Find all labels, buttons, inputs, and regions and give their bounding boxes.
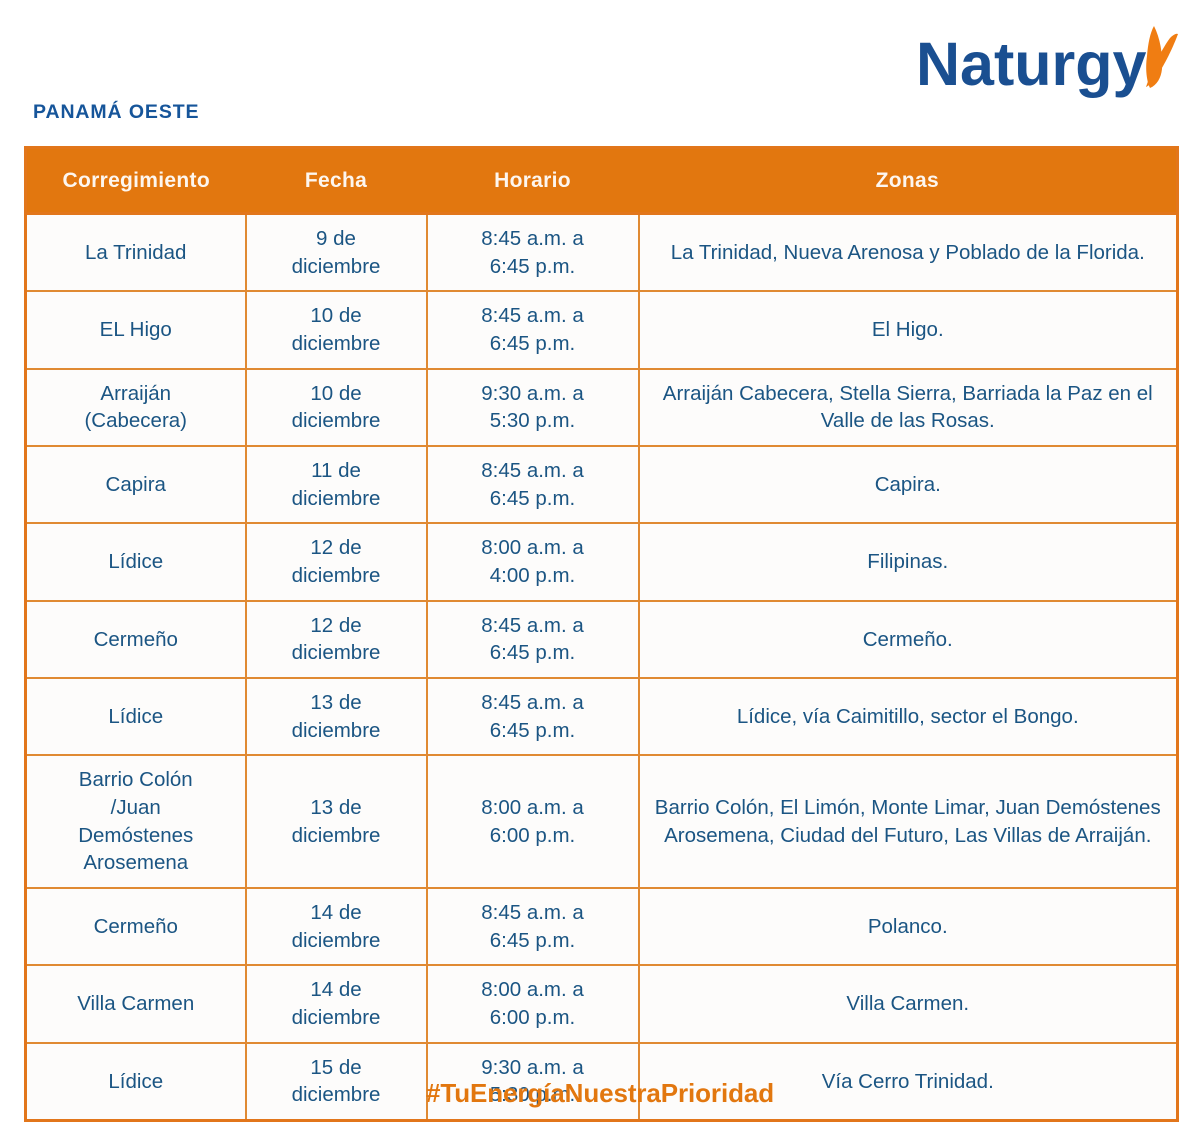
cell-fecha: 10 de diciembre — [246, 291, 427, 368]
cell-corregimiento: Arraiján (Cabecera) — [26, 369, 246, 446]
cell-corregimiento: Capira — [26, 446, 246, 523]
cell-fecha: 9 de diciembre — [246, 214, 427, 292]
cell-zonas: Barrio Colón, El Limón, Monte Limar, Jua… — [639, 755, 1178, 888]
schedule-table: Corregimiento Fecha Horario Zonas La Tri… — [24, 146, 1179, 1122]
cell-corregimiento: Cermeño — [26, 888, 246, 965]
cell-fecha: 14 de diciembre — [246, 965, 427, 1042]
cell-zonas: Arraiján Cabecera, Stella Sierra, Barria… — [639, 369, 1178, 446]
table-row: Capira 11 de diciembre 8:45 a.m. a 6:45 … — [26, 446, 1178, 523]
column-header-zonas: Zonas — [639, 148, 1178, 214]
cell-horario: 8:00 a.m. a 6:00 p.m. — [427, 965, 639, 1042]
logo-wordmark: Naturgy — [916, 30, 1147, 98]
table-head: Corregimiento Fecha Horario Zonas — [26, 148, 1178, 214]
naturgy-logo-svg: Naturgy — [916, 22, 1178, 106]
column-header-corregimiento: Corregimiento — [26, 148, 246, 214]
cell-zonas: Filipinas. — [639, 523, 1178, 600]
cell-corregimiento: Cermeño — [26, 601, 246, 678]
cell-horario: 8:45 a.m. a 6:45 p.m. — [427, 888, 639, 965]
cell-horario: 8:00 a.m. a 6:00 p.m. — [427, 755, 639, 888]
cell-horario: 8:45 a.m. a 6:45 p.m. — [427, 678, 639, 755]
cell-corregimiento: Lídice — [26, 678, 246, 755]
cell-horario: 9:30 a.m. a 5:30 p.m. — [427, 369, 639, 446]
cell-horario: 8:45 a.m. a 6:45 p.m. — [427, 291, 639, 368]
cell-zonas: El Higo. — [639, 291, 1178, 368]
campaign-hashtag: #TuEnergíaNuestraPrioridad — [426, 1078, 774, 1108]
cell-corregimiento: EL Higo — [26, 291, 246, 368]
column-header-horario: Horario — [427, 148, 639, 214]
cell-zonas: Capira. — [639, 446, 1178, 523]
table-row: Cermeño 14 de diciembre 8:45 a.m. a 6:45… — [26, 888, 1178, 965]
cell-corregimiento: La Trinidad — [26, 214, 246, 292]
schedule-table-wrapper: Corregimiento Fecha Horario Zonas La Tri… — [24, 146, 1176, 1122]
cell-horario: 8:45 a.m. a 6:45 p.m. — [427, 601, 639, 678]
cell-horario: 8:45 a.m. a 6:45 p.m. — [427, 214, 639, 292]
page-header: Naturgy PANAMÁ OESTE — [0, 0, 1200, 143]
cell-zonas: Villa Carmen. — [639, 965, 1178, 1042]
cell-fecha: 13 de diciembre — [246, 755, 427, 888]
cell-fecha: 12 de diciembre — [246, 601, 427, 678]
naturgy-logo: Naturgy — [916, 22, 1178, 106]
poster-root: Naturgy PANAMÁ OESTE Corregimiento Fecha… — [0, 0, 1200, 1126]
table-header-row: Corregimiento Fecha Horario Zonas — [26, 148, 1178, 214]
cell-horario: 8:45 a.m. a 6:45 p.m. — [427, 446, 639, 523]
cell-fecha: 10 de diciembre — [246, 369, 427, 446]
cell-zonas: Lídice, vía Caimitillo, sector el Bongo. — [639, 678, 1178, 755]
column-header-fecha: Fecha — [246, 148, 427, 214]
cell-fecha: 11 de diciembre — [246, 446, 427, 523]
table-row: Villa Carmen 14 de diciembre 8:00 a.m. a… — [26, 965, 1178, 1042]
table-row: Lídice 13 de diciembre 8:45 a.m. a 6:45 … — [26, 678, 1178, 755]
cell-corregimiento: Villa Carmen — [26, 965, 246, 1042]
table-row: EL Higo 10 de diciembre 8:45 a.m. a 6:45… — [26, 291, 1178, 368]
table-row: Barrio Colón /Juan Demóstenes Arosemena … — [26, 755, 1178, 888]
cell-fecha: 13 de diciembre — [246, 678, 427, 755]
cell-zonas: Polanco. — [639, 888, 1178, 965]
table-row: Lídice 12 de diciembre 8:00 a.m. a 4:00 … — [26, 523, 1178, 600]
cell-fecha: 14 de diciembre — [246, 888, 427, 965]
cell-corregimiento: Lídice — [26, 523, 246, 600]
cell-fecha: 12 de diciembre — [246, 523, 427, 600]
page-footer: #TuEnergíaNuestraPrioridad — [0, 1078, 1200, 1109]
page-title: PANAMÁ OESTE — [33, 101, 199, 124]
cell-corregimiento: Barrio Colón /Juan Demóstenes Arosemena — [26, 755, 246, 888]
table-row: Arraiján (Cabecera) 10 de diciembre 9:30… — [26, 369, 1178, 446]
table-body: La Trinidad 9 de diciembre 8:45 a.m. a 6… — [26, 214, 1178, 1121]
cell-zonas: Cermeño. — [639, 601, 1178, 678]
table-row: La Trinidad 9 de diciembre 8:45 a.m. a 6… — [26, 214, 1178, 292]
cell-horario: 8:00 a.m. a 4:00 p.m. — [427, 523, 639, 600]
table-row: Cermeño 12 de diciembre 8:45 a.m. a 6:45… — [26, 601, 1178, 678]
naturgy-flame-icon — [1146, 26, 1178, 88]
cell-zonas: La Trinidad, Nueva Arenosa y Poblado de … — [639, 214, 1178, 292]
